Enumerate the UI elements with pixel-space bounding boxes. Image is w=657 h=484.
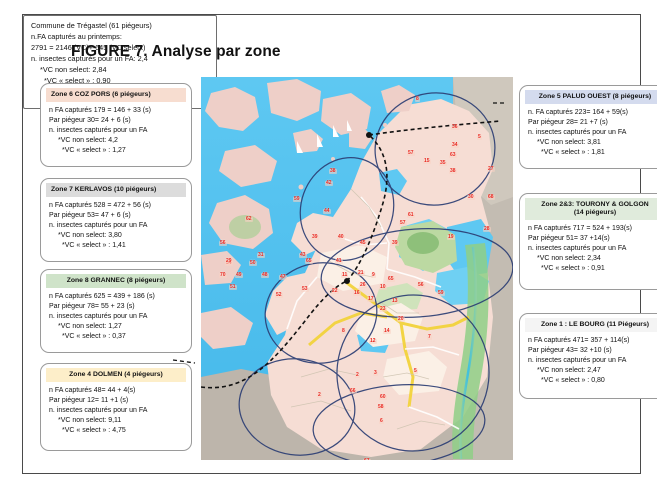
zone-line-insects: n. insectes capturés pour un FA [528, 356, 657, 366]
zone-box-header: Zone 4 DOLMEN (4 piégeurs) [46, 368, 186, 382]
map-graphic [201, 77, 513, 460]
zone-box-body: n. FA capturés 223= 164 + 59(s) Par piég… [525, 108, 657, 159]
zone-line-vc-select: *VC « select » : 1,41 [49, 241, 186, 251]
zone-box-palud-ouest[interactable]: Zone 5 PALUD OUEST (8 piégeurs) n. FA ca… [519, 85, 657, 169]
zone-line-vc-nonselect: *VC non select: 4,2 [49, 136, 186, 146]
zone-line-captured: n FA capturés 471= 357 + 114(s) [528, 336, 657, 346]
zone-line-vc-nonselect: *VC non select: 3,81 [528, 138, 657, 148]
zone-box-header: Zone 8 GRANNEC (8 piégeurs) [46, 274, 186, 288]
zone-line-vc-nonselect: *VC non select: 2,47 [528, 366, 657, 376]
zone-box-body: n FA capturés 717 = 524 + 193(s) Par pié… [525, 224, 657, 275]
zone-box-header: Zone 2&3: TOURONY & GOLGON (14 piégeurs) [525, 198, 657, 220]
zone-line-captured: n FA capturés 528 = 472 + 56 (s) [49, 201, 186, 211]
zone-line-insects: n. insectes capturés pour un FA [49, 406, 186, 416]
zone-line-insects: n. insectes capturés pour un FA [49, 126, 186, 136]
zone-box-body: n FA capturés 471= 357 + 114(s) Par piég… [525, 336, 657, 387]
zone-line-per-trapper: Par piégeur 51= 37 +14(s) [528, 234, 657, 244]
zone-box-header: Zone 5 PALUD OUEST (8 piégeurs) [525, 90, 657, 104]
zone-line-vc-select: *VC « select » : 0,80 [528, 376, 657, 386]
zone-line-per-trapper: Par piégeur 78= 55 + 23 (s) [49, 302, 186, 312]
total-line-spring: n.FA capturés au printemps: [31, 32, 210, 43]
zone-box-header: Zone 7 KERLAVOS (10 piégeurs) [46, 183, 186, 197]
zone-line-vc-nonselect: *VC non select: 3,80 [49, 231, 186, 241]
total-line-commune: Commune de Trégastel (61 piégeurs) [31, 21, 210, 32]
zone-box-body: n FA capturés 48= 44 + 4(s) Par piégeur … [46, 386, 186, 437]
zone-line-per-trapper: Par piégeur 12= 11 +1 (s) [49, 396, 186, 406]
zone-line-per-trapper: Par piégeur 28= 21 +7 (s) [528, 118, 657, 128]
zone-box-coz-pors[interactable]: Zone 6 COZ PORS (6 piégeurs) n FA captur… [40, 83, 192, 167]
zone-box-header-line1: Zone 2&3: TOURONY & GOLGON [541, 201, 648, 208]
zone-line-per-trapper: Par piégeur 53= 47 + 6 (s) [49, 211, 186, 221]
zone-line-insects: n. insectes capturés pour un FA [49, 221, 186, 231]
page-title: FIGURE 7. Analyse par zone [71, 43, 281, 61]
zone-box-dolmen[interactable]: Zone 4 DOLMEN (4 piégeurs) n FA capturés… [40, 363, 192, 451]
zone-line-insects: n. insectes capturés pour un FA [528, 128, 657, 138]
zone-box-kerlavos[interactable]: Zone 7 KERLAVOS (10 piégeurs) n FA captu… [40, 178, 192, 262]
zone-box-body: n FA capturés 625 = 439 + 186 (s) Par pi… [46, 292, 186, 343]
zone-box-tourony-golgon[interactable]: Zone 2&3: TOURONY & GOLGON (14 piégeurs)… [519, 193, 657, 290]
zone-line-captured: n FA capturés 717 = 524 + 193(s) [528, 224, 657, 234]
zone-line-captured: n FA capturés 48= 44 + 4(s) [49, 386, 186, 396]
zone-line-per-trapper: Par piégeur 30= 24 + 6 (s) [49, 116, 186, 126]
zone-box-header: Zone 1 : LE BOURG (11 Piégeurs) [525, 318, 657, 332]
zone-line-per-trapper: Par piégeur 43= 32 +10 (s) [528, 346, 657, 356]
zone-box-body: n FA capturés 528 = 472 + 56 (s) Par pié… [46, 201, 186, 252]
zone-line-vc-nonselect: *VC non select: 2,34 [528, 254, 657, 264]
zone-line-captured: n FA capturés 625 = 439 + 186 (s) [49, 292, 186, 302]
zone-line-vc-nonselect: *VC non select: 1,27 [49, 322, 186, 332]
zone-line-captured: n. FA capturés 223= 164 + 59(s) [528, 108, 657, 118]
zone-line-vc-select: *VC « select » : 0,37 [49, 332, 186, 342]
zone-box-body: n FA capturés 179 = 146 + 33 (s) Par pié… [46, 106, 186, 157]
zone-line-vc-select: *VC « select » : 0,91 [528, 264, 657, 274]
zone-line-insects: n. insectes capturés pour un FA [528, 244, 657, 254]
zone-line-insects: n. insectes capturés pour un FA [49, 312, 186, 322]
total-line-vc-nonselect: *VC non select: 2,84 [31, 65, 210, 76]
zone-line-vc-select: *VC « select » : 4,75 [49, 426, 186, 436]
zone-line-captured: n FA capturés 179 = 146 + 33 (s) [49, 106, 186, 116]
zone-box-header: Zone 6 COZ PORS (6 piégeurs) [46, 88, 186, 102]
slide-frame: FIGURE 7. Analyse par zone [22, 14, 641, 474]
map-tregastel[interactable]: 8 36 5 34 63 57 35 15 38 27 38 42 59 44 … [201, 77, 513, 460]
zone-line-vc-select: *VC « select » : 1,81 [528, 148, 657, 158]
zone-box-grannec[interactable]: Zone 8 GRANNEC (8 piégeurs) n FA capturé… [40, 269, 192, 353]
zone-line-vc-select: *VC « select » : 1,27 [49, 146, 186, 156]
zone-box-le-bourg[interactable]: Zone 1 : LE BOURG (11 Piégeurs) n FA cap… [519, 313, 657, 399]
zone-line-vc-nonselect: *VC non select: 9,11 [49, 416, 186, 426]
zone-box-header-line2: (14 piégeurs) [574, 209, 616, 216]
